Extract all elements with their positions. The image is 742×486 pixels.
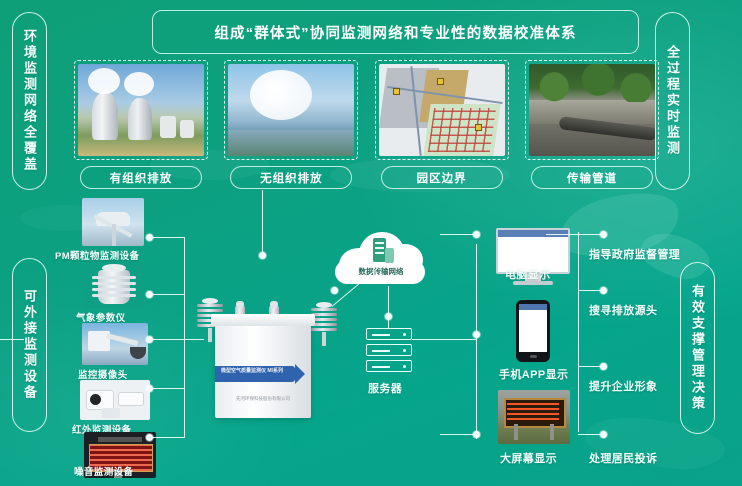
display-label-mobile-app: 手机APP显示 — [499, 366, 568, 382]
scene-card-organized-emission[interactable] — [74, 60, 208, 160]
scene-caption-park-boundary[interactable]: 园区边界 — [381, 166, 503, 189]
side-capsule-external-devices: 可外接监测设备 — [12, 258, 47, 432]
station-footer-text: 先河环保科技股份有限公司 — [223, 396, 303, 402]
scene-caption-transport-pipeline[interactable]: 传输管道 — [531, 166, 653, 189]
connector-line — [152, 388, 184, 389]
connector-node — [259, 252, 266, 259]
connector-scene-to-station — [262, 190, 263, 255]
infographic-canvas: 环境监测网络全覆盖 全过程实时监测 可外接监测设备 有效支撑管理决策 组成“群体… — [0, 0, 742, 486]
device-label-pm: PM颗粒物监测设备 — [55, 248, 139, 262]
connector-line — [440, 234, 476, 235]
infrared-camera-photo[interactable] — [80, 380, 150, 420]
side-label-management-decision: 有效支撑管理决策 — [691, 284, 704, 412]
display-label-led-screen: 大屏幕显示 — [500, 450, 557, 466]
scene-card-unorganized-emission[interactable] — [224, 60, 358, 160]
connector-line — [578, 234, 604, 235]
connector-trunk-benefits — [578, 232, 579, 432]
side-capsule-realtime-monitoring: 全过程实时监测 — [655, 12, 690, 190]
cloud-server-icon-small — [385, 248, 394, 263]
benefit-label-government-supervision: 指导政府监督管理 — [589, 246, 680, 262]
benefit-label-find-emission-source: 搜寻排放源头 — [589, 302, 657, 318]
connector-line — [152, 339, 204, 340]
connector-node — [385, 313, 392, 320]
connector-line — [578, 290, 604, 291]
data-transmission-cloud[interactable]: 数据传输网络 — [333, 228, 429, 290]
industrial-park-map-photo — [379, 64, 505, 156]
display-label-desktop: 电脑显示 — [505, 266, 551, 282]
headline-banner: 组成“群体式”协同监测网络和专业性的数据校准体系 — [152, 10, 639, 54]
benefit-label-handle-complaints: 处理居民投诉 — [589, 450, 657, 466]
pipeline-photo — [529, 64, 655, 156]
side-label-realtime-monitoring: 全过程实时监测 — [666, 45, 679, 157]
cooling-tower-photo — [78, 64, 204, 156]
connector-line — [578, 434, 604, 435]
cctv-camera-photo[interactable] — [82, 323, 148, 365]
server-icon[interactable] — [366, 328, 412, 376]
station-cabinet: 微型空气质量监测仪 MI系列 先河环保科技股份有限公司 — [215, 322, 311, 418]
cloud-label: 数据传输网络 — [333, 266, 429, 277]
connector-cloud-to-server — [388, 286, 389, 328]
scene-card-park-boundary[interactable] — [375, 60, 509, 160]
scene-caption-unorganized-emission[interactable]: 无组织排放 — [230, 166, 352, 189]
device-label-weather: 气象参数仪 — [76, 310, 126, 324]
headline-text: 组成“群体式”协同监测网络和专业性的数据校准体系 — [214, 22, 576, 43]
connector-node — [331, 287, 338, 294]
connector-line — [152, 237, 184, 238]
benefit-label-improve-image: 提升企业形象 — [589, 378, 657, 394]
connector-line — [546, 234, 578, 235]
station-band-text: 微型空气质量监测仪 MI系列 — [221, 368, 291, 374]
device-label-cctv: 监控摄像头 — [78, 367, 128, 381]
connector-node — [473, 331, 480, 338]
side-label-network-coverage: 环境监测网络全覆盖 — [23, 29, 36, 173]
scene-card-transport-pipeline[interactable] — [525, 60, 659, 160]
connector-trunk-left — [184, 237, 185, 438]
connector-trunk-right — [476, 244, 477, 439]
side-label-external-devices: 可外接监测设备 — [23, 289, 36, 401]
air-quality-monitoring-station[interactable]: 微型空气质量监测仪 MI系列 先河环保科技股份有限公司 — [205, 300, 325, 420]
side-capsule-network-coverage: 环境监测网络全覆盖 — [12, 12, 47, 190]
smoke-plume-photo — [228, 64, 354, 156]
connector-server-to-displays — [412, 339, 476, 340]
device-label-noise: 噪音监测设备 — [74, 464, 133, 478]
connector-line — [0, 339, 24, 340]
weather-sensor-photo[interactable] — [84, 262, 144, 308]
scene-caption-row: 有组织排放 无组织排放 园区边界 传输管道 — [74, 166, 659, 188]
connector-line — [152, 437, 184, 438]
connector-line — [578, 366, 604, 367]
connector-line — [152, 294, 184, 295]
led-billboard-photo[interactable] — [498, 390, 570, 444]
smartphone-photo[interactable] — [516, 300, 550, 362]
pm-sensor-photo[interactable] — [82, 198, 144, 246]
scene-caption-organized-emission[interactable]: 有组织排放 — [80, 166, 202, 189]
connector-line — [440, 434, 476, 435]
server-label: 服务器 — [368, 380, 402, 396]
side-capsule-management-decision: 有效支撑管理决策 — [680, 262, 715, 434]
